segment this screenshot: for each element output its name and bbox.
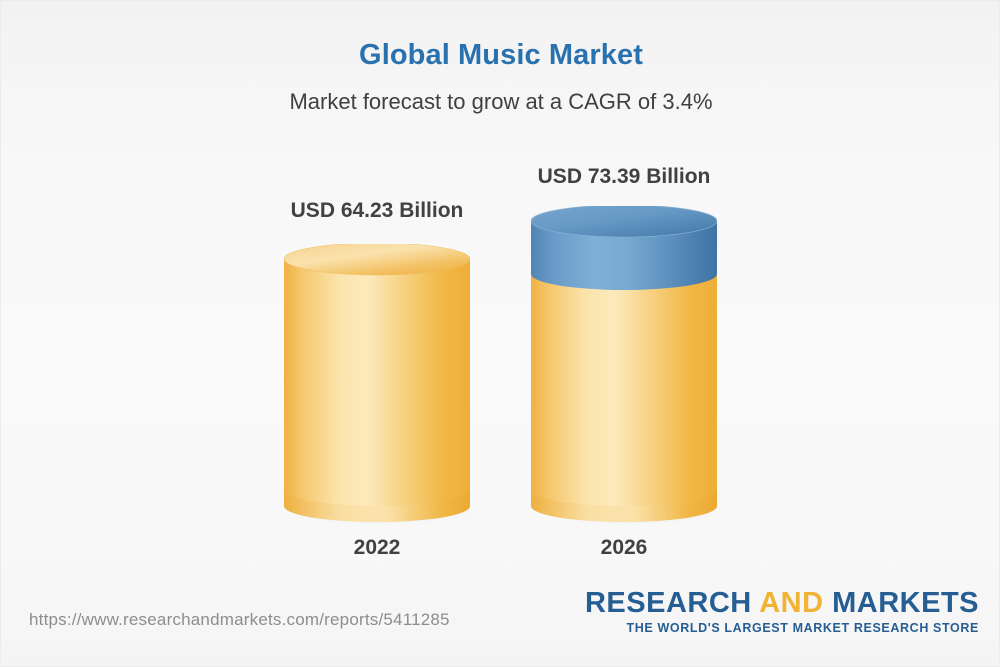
logo-tagline: THE WORLD'S LARGEST MARKET RESEARCH STOR… bbox=[585, 621, 979, 635]
logo-word-and: AND bbox=[759, 587, 823, 619]
infographic-canvas: Global Music Market Market forecast to g… bbox=[0, 0, 1000, 667]
report-url[interactable]: https://www.researchandmarkets.com/repor… bbox=[29, 610, 450, 630]
value-label-2022: USD 64.23 Billion bbox=[247, 199, 507, 223]
chart-plot-area: USD 64.23 Billion bbox=[1, 1, 1000, 581]
category-label-2022: 2022 bbox=[247, 536, 507, 560]
cylinder-2026-shape bbox=[531, 206, 717, 526]
category-label-2026: 2026 bbox=[494, 536, 754, 560]
value-label-2026: USD 73.39 Billion bbox=[494, 165, 754, 189]
logo-word-research: RESEARCH bbox=[585, 587, 752, 619]
logo-wordmark: RESEARCH AND MARKETS bbox=[585, 588, 979, 618]
logo-word-markets: MARKETS bbox=[832, 587, 979, 619]
cylinder-2026 bbox=[531, 206, 717, 526]
cylinder-2022-shape bbox=[284, 244, 470, 526]
footer: https://www.researchandmarkets.com/repor… bbox=[1, 580, 1000, 666]
research-and-markets-logo[interactable]: RESEARCH AND MARKETS THE WORLD'S LARGEST… bbox=[585, 588, 979, 635]
cylinder-2022 bbox=[284, 244, 470, 526]
